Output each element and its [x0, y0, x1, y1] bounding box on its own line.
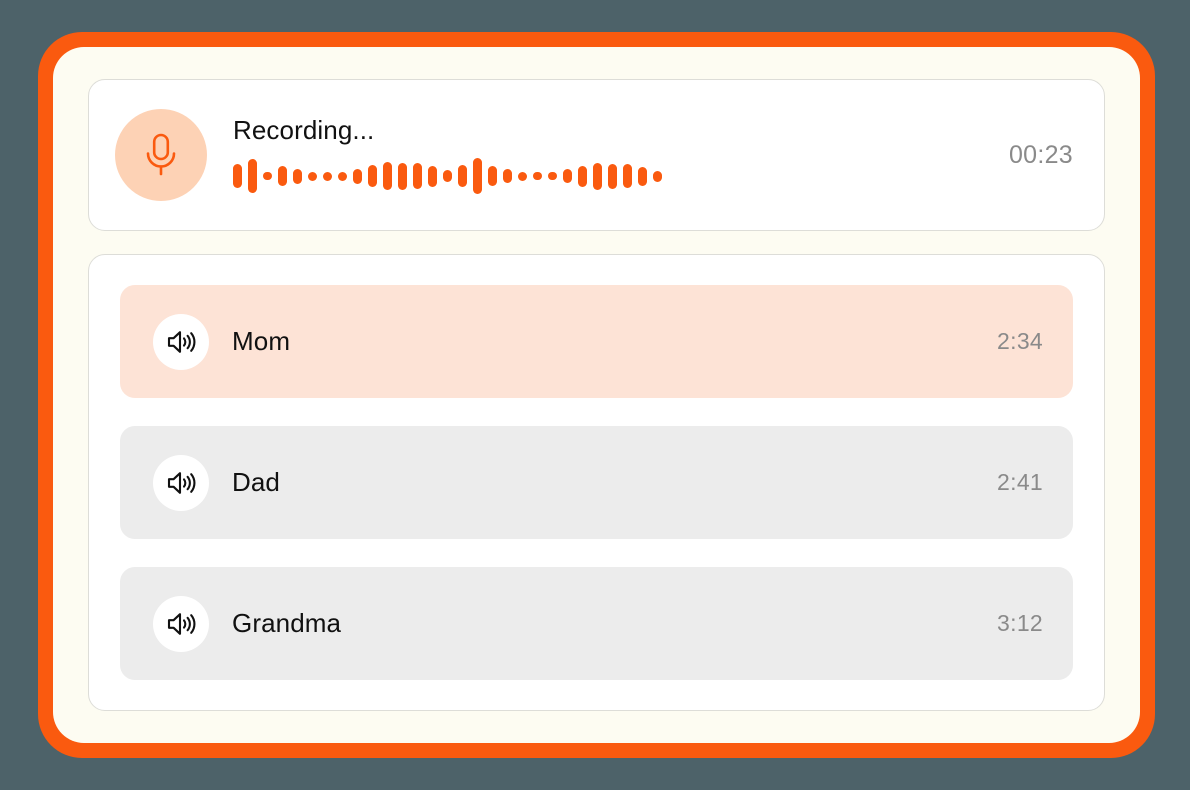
- speaker-icon[interactable]: [153, 314, 209, 370]
- device-screen: Recording... 00:23 Mom2:34 Dad2:41 Grand…: [53, 47, 1140, 743]
- clip-row[interactable]: Dad2:41: [120, 426, 1073, 539]
- waveform-bar: [503, 169, 512, 183]
- waveform-bar: [653, 171, 662, 182]
- waveform-bar: [323, 172, 332, 181]
- waveform-bar: [233, 164, 242, 188]
- recorder-card: Recording... 00:23: [88, 79, 1105, 231]
- clip-row[interactable]: Grandma3:12: [120, 567, 1073, 680]
- waveform-bar: [293, 169, 302, 184]
- recording-status-label: Recording...: [233, 117, 983, 143]
- waveform-bar: [308, 172, 317, 181]
- waveform-bar: [608, 164, 617, 189]
- waveform-bar: [278, 166, 287, 186]
- waveform-bar: [338, 172, 347, 181]
- waveform-bar: [383, 162, 392, 190]
- speaker-icon[interactable]: [153, 596, 209, 652]
- clips-card: Mom2:34 Dad2:41 Grandma3:12: [88, 254, 1105, 711]
- waveform-bar: [488, 166, 497, 186]
- speaker-icon[interactable]: [153, 455, 209, 511]
- clip-row[interactable]: Mom2:34: [120, 285, 1073, 398]
- mic-record-button[interactable]: [115, 109, 207, 201]
- clip-duration: 2:41: [997, 469, 1043, 496]
- clip-duration: 3:12: [997, 610, 1043, 637]
- clip-name: Mom: [232, 326, 974, 357]
- microphone-icon: [141, 132, 181, 178]
- waveform-bar: [248, 159, 257, 193]
- waveform-bar: [428, 166, 437, 187]
- recording-timer: 00:23: [1009, 141, 1073, 170]
- waveform-bar: [353, 169, 362, 184]
- waveform-bar: [413, 163, 422, 189]
- waveform-bar: [593, 163, 602, 190]
- waveform-bar: [263, 172, 272, 180]
- waveform-bar: [368, 165, 377, 187]
- waveform-bar: [473, 158, 482, 194]
- waveform-bar: [638, 167, 647, 186]
- waveform-bar: [443, 170, 452, 182]
- waveform-bar: [518, 172, 527, 181]
- waveform-bar: [623, 164, 632, 188]
- waveform-bar: [398, 163, 407, 190]
- waveform-bar: [533, 172, 542, 180]
- clip-name: Grandma: [232, 608, 974, 639]
- waveform-bar: [578, 166, 587, 187]
- device-frame: Recording... 00:23 Mom2:34 Dad2:41 Grand…: [38, 32, 1155, 758]
- clip-name: Dad: [232, 467, 974, 498]
- waveform-bar: [458, 165, 467, 187]
- waveform-bar: [563, 169, 572, 183]
- recorder-body: Recording...: [233, 115, 983, 195]
- waveform-bar: [548, 172, 557, 180]
- clip-duration: 2:34: [997, 328, 1043, 355]
- recording-waveform: [233, 157, 983, 195]
